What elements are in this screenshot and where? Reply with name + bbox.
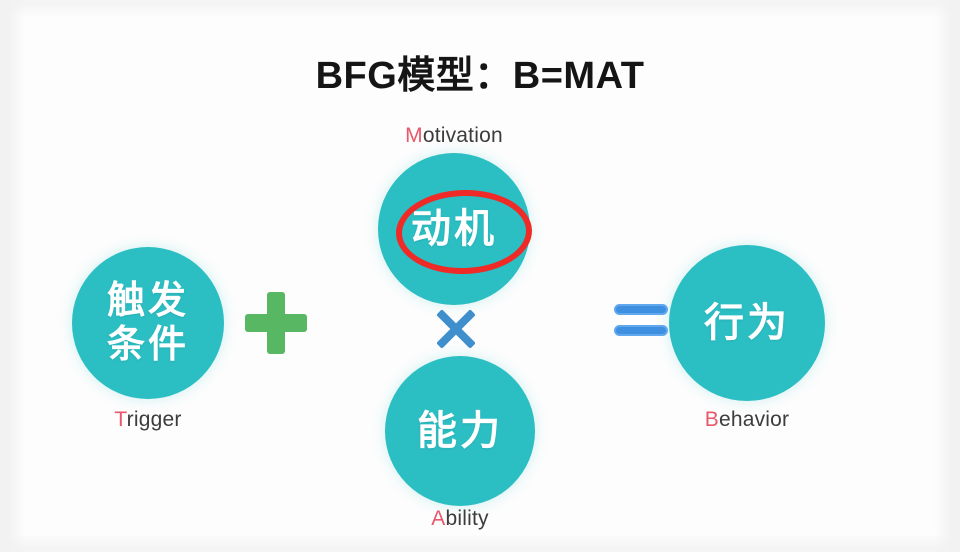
circle-ability[interactable]: 能力 [385, 356, 535, 506]
circle-trigger-line2: 条件 [107, 322, 189, 366]
equals-icon-top-bar [614, 304, 668, 315]
label-ability-initial: A [431, 507, 445, 530]
plus-icon [245, 292, 307, 354]
equals-icon-bottom-bar [614, 325, 668, 336]
label-behavior-initial: B [705, 408, 719, 431]
circle-trigger-line1: 触发 [107, 278, 189, 322]
label-behavior-rest: ehavior [719, 408, 789, 431]
label-trigger: Trigger [72, 408, 224, 432]
circle-behavior-text: 行为 [704, 302, 790, 344]
label-ability-rest: bility [446, 507, 489, 530]
label-trigger-initial: T [114, 408, 126, 431]
label-behavior: Behavior [669, 408, 825, 432]
circle-ability-text: 能力 [417, 410, 503, 452]
multiply-icon [432, 305, 480, 353]
plus-icon-vertical-bar [267, 292, 285, 354]
label-trigger-rest: rigger [127, 408, 182, 431]
label-ability: Ability [385, 507, 535, 531]
page-title: BFG模型：B=MAT [0, 44, 960, 99]
label-motivation-rest: otivation [423, 124, 503, 147]
circle-trigger-text: 触发 条件 [107, 279, 189, 366]
label-motivation: Motivation [378, 124, 530, 148]
circle-behavior[interactable]: 行为 [669, 245, 825, 401]
equals-icon [614, 303, 668, 339]
slide-canvas: BFG模型：B=MAT Motivation 动机 触发 条件 Trigger … [0, 0, 960, 552]
circle-trigger[interactable]: 触发 条件 [72, 247, 224, 399]
label-motivation-initial: M [405, 124, 423, 147]
